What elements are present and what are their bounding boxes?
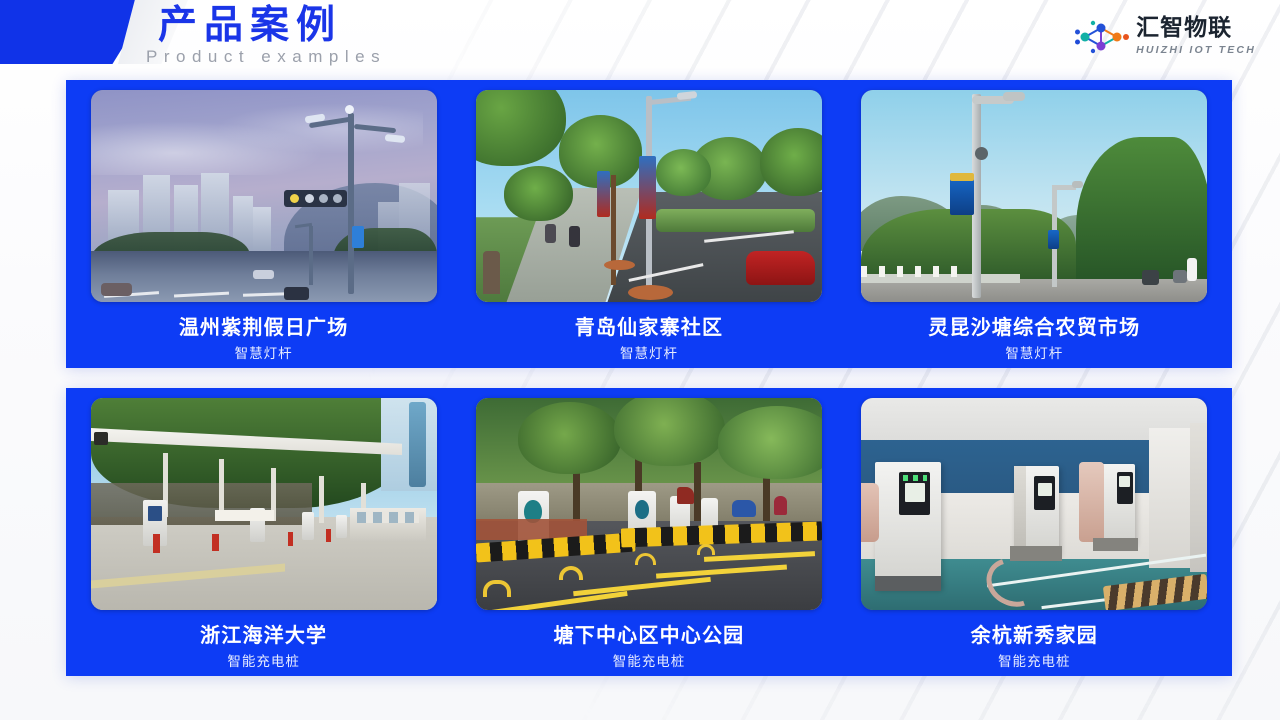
page-title: 产品案例	[158, 4, 342, 48]
scene-green-boulevard-render-smart-pole	[476, 90, 822, 302]
page-subtitle: Product examples	[146, 47, 386, 67]
case-title: 浙江海洋大学	[200, 623, 327, 647]
scene-parking-lot-chargers	[476, 398, 822, 610]
case-card-5[interactable]: 塘下中心区中心公园 智能充电桩	[465, 398, 832, 676]
case-image-2[interactable]	[476, 90, 822, 302]
scene-mountain-road-smart-pole	[861, 90, 1207, 302]
case-category: 智能充电桩	[998, 654, 1071, 670]
case-row: 浙江海洋大学 智能充电桩	[66, 388, 1232, 676]
brand-logo: 汇智物联 HUIZHI IOT TECH	[1075, 16, 1256, 57]
case-title: 青岛仙家寨社区	[575, 315, 723, 339]
case-card-6[interactable]: 余杭新秀家园 智能充电桩	[851, 398, 1218, 676]
scene-indoor-charging-room	[861, 398, 1207, 610]
case-title: 塘下中心区中心公园	[554, 623, 745, 647]
brand-name-zh: 汇智物联	[1136, 16, 1256, 41]
case-image-6[interactable]	[861, 398, 1207, 610]
brand-name-en: HUIZHI IOT TECH	[1136, 43, 1256, 57]
case-card-4[interactable]: 浙江海洋大学 智能充电桩	[80, 398, 447, 676]
case-card-2[interactable]: 青岛仙家寨社区 智慧灯杆	[465, 90, 832, 368]
scene-charging-canopy-station	[91, 398, 437, 610]
case-category: 智慧灯杆	[235, 346, 293, 362]
case-category: 智慧灯杆	[620, 346, 678, 362]
case-category: 智能充电桩	[227, 654, 300, 670]
case-image-4[interactable]	[91, 398, 437, 610]
case-title: 灵昆沙塘综合农贸市场	[928, 315, 1140, 339]
scene-dusk-city-street-smart-pole	[91, 90, 437, 302]
case-image-3[interactable]	[861, 90, 1207, 302]
case-title: 温州紫荆假日广场	[179, 315, 349, 339]
case-image-5[interactable]	[476, 398, 822, 610]
case-category: 智能充电桩	[613, 654, 686, 670]
case-category: 智慧灯杆	[1005, 346, 1063, 362]
case-card-1[interactable]: 温州紫荆假日广场 智慧灯杆	[80, 90, 447, 368]
case-image-1[interactable]	[91, 90, 437, 302]
slide-header: 产品案例 Product examples 汇智物联	[0, 0, 1280, 72]
case-panel-row-2: 浙江海洋大学 智能充电桩	[66, 388, 1232, 676]
molecule-network-icon	[1075, 18, 1129, 56]
case-panel-row-1: 温州紫荆假日广场 智慧灯杆	[66, 80, 1232, 368]
slide-canvas: 产品案例 Product examples 汇智物联	[0, 0, 1280, 720]
brand-logo-text: 汇智物联 HUIZHI IOT TECH	[1136, 16, 1256, 57]
case-card-3[interactable]: 灵昆沙塘综合农贸市场 智慧灯杆	[851, 90, 1218, 368]
case-row: 温州紫荆假日广场 智慧灯杆	[66, 80, 1232, 368]
case-title: 余杭新秀家园	[971, 623, 1098, 647]
